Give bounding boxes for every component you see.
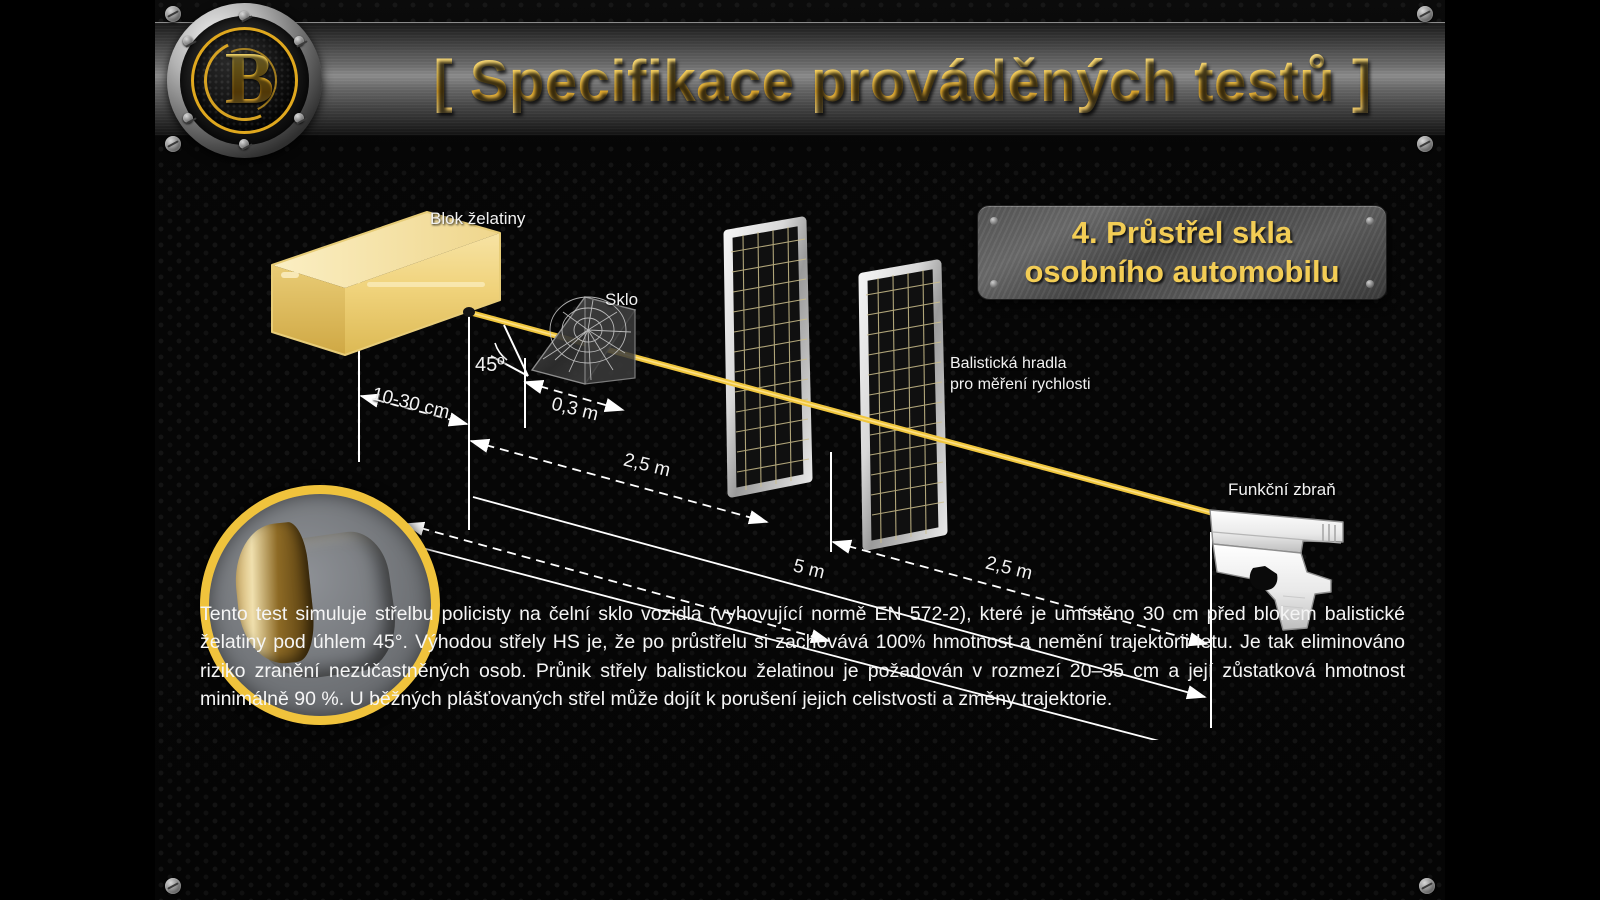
label-functional-weapon: Funkční zbraň (1228, 480, 1336, 500)
screw-icon (183, 36, 193, 46)
label-ballistic-gates-line2: pro měření rychlosti (950, 376, 1091, 394)
screw-icon (1366, 217, 1374, 225)
nameplate-line-2: osobního automobilu (1024, 253, 1339, 291)
screw-icon (1366, 280, 1374, 288)
ballistic-gate-near (728, 221, 809, 493)
content-panel: B [ Specifikace prováděných testů ] 4. P… (155, 0, 1445, 900)
screw-icon (990, 217, 998, 225)
screw-icon (239, 11, 249, 21)
description-paragraph: Tento test simuluje střelbu policisty na… (200, 600, 1405, 714)
page-title: [ Specifikace prováděných testů ] (370, 38, 1435, 124)
label-ballistic-gates-line1: Balistická hradla (950, 355, 1067, 373)
nameplate-line-1: 4. Průstřel skla (1072, 214, 1293, 252)
screw-icon (1417, 136, 1433, 152)
gelatin-block (272, 212, 500, 355)
page-root: B [ Specifikace prováděných testů ] 4. P… (0, 0, 1600, 900)
label-angle-45: 45º (475, 354, 505, 377)
screw-icon (990, 280, 998, 288)
lb-emblem-logo[interactable]: B (167, 3, 322, 158)
label-glass: Sklo (605, 290, 638, 310)
header-bar: B [ Specifikace prováděných testů ] (155, 0, 1445, 160)
screw-icon (239, 139, 249, 149)
screw-icon (165, 878, 181, 894)
screw-icon (1417, 6, 1433, 22)
logo-disc: B (191, 27, 298, 134)
screw-icon (1419, 878, 1435, 894)
screw-icon (294, 113, 304, 123)
screw-icon (165, 136, 181, 152)
glass-pane (532, 297, 635, 384)
screw-icon (183, 113, 193, 123)
screw-icon (165, 6, 181, 22)
ballistic-gate-far (863, 264, 944, 546)
screw-icon (294, 36, 304, 46)
description-text: Tento test simuluje střelbu policisty na… (200, 600, 1405, 714)
label-gelatin-block: Blok želatiny (430, 209, 525, 229)
logo-glyph: B (194, 36, 295, 121)
